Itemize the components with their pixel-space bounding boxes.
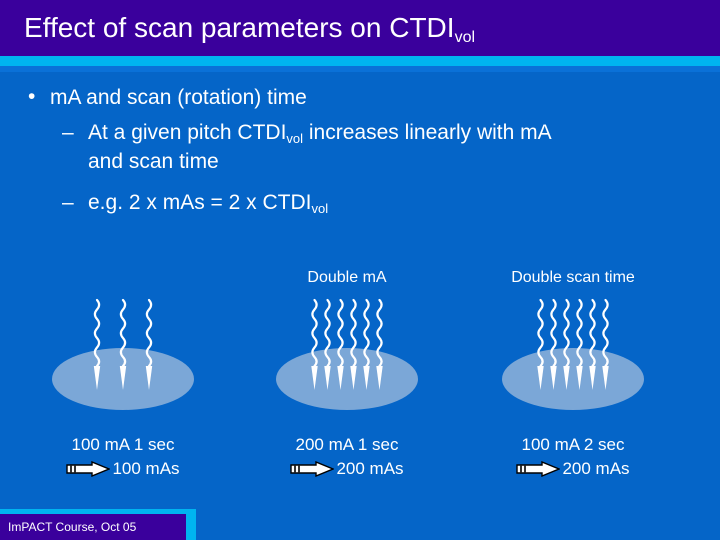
xray-beam-rays <box>458 290 688 410</box>
diagram-label-top: 100 mA 2 sec <box>521 435 624 454</box>
diagram-label-double-ma: 200 mA 1 sec 200 mAs <box>232 434 462 456</box>
bullet-level2-first-post: increases linearly with mA <box>303 121 552 144</box>
divider-stripe-blue <box>0 66 720 72</box>
diagram-label-double-time: 100 mA 2 sec 200 mAs <box>458 434 688 456</box>
bullet-level2-second-subscript: vol <box>311 201 328 216</box>
bullet-level2-first-line2: and scan time <box>88 148 720 175</box>
block-arrow-right-icon <box>290 461 334 477</box>
slide: Effect of scan parameters on CTDIvol • m… <box>0 0 720 540</box>
block-arrow-right-icon <box>516 461 560 477</box>
diagram-caption: Double scan time <box>458 268 688 288</box>
bullet-level2-first: – At a given pitch CTDIvol increases lin… <box>58 119 720 175</box>
diagram-result-text: 200 mAs <box>336 458 403 480</box>
bullet-marker-dot: • <box>28 83 35 110</box>
diagram-result-row: 200 mAs <box>458 458 688 480</box>
bullet-marker-dash: – <box>62 189 74 216</box>
bullet-level1: • mA and scan (rotation) time <box>22 84 720 111</box>
page-title-main: Effect of scan parameters on CTDI <box>24 12 455 43</box>
diagram-result-text: 100 mAs <box>112 458 179 480</box>
bullet-marker-dash: – <box>62 119 74 146</box>
bullet-level1-text: mA and scan (rotation) time <box>50 86 307 109</box>
diagram-scene <box>8 290 238 410</box>
xray-beam-rays <box>232 290 462 410</box>
page-title-subscript: vol <box>455 29 475 46</box>
block-arrow-right-icon <box>66 461 110 477</box>
bullet-level2-first-line1: At a given pitch CTDIvol increases linea… <box>88 119 720 148</box>
bullet-level2-second-line1: e.g. 2 x mAs = 2 x CTDIvol <box>88 189 720 218</box>
bullet-level2-second: – e.g. 2 x mAs = 2 x CTDIvol <box>58 189 720 218</box>
bullet-list: • mA and scan (rotation) time – At a giv… <box>0 84 720 218</box>
bullet-level2-first-pre: At a given pitch CTDI <box>88 121 286 144</box>
footer-text: ImPACT Course, Oct 05 <box>8 519 136 535</box>
diagram-result-row: 100 mAs <box>8 458 238 480</box>
bullet-level2-first-subscript: vol <box>286 131 303 146</box>
diagram-label-top: 100 mA 1 sec <box>71 435 174 454</box>
diagram-scene <box>232 290 462 410</box>
diagram-result-row: 200 mAs <box>232 458 462 480</box>
diagram-caption: Double mA <box>232 268 462 288</box>
divider-stripe-cyan <box>0 56 720 66</box>
page-title: Effect of scan parameters on CTDIvol <box>24 12 475 49</box>
bullet-level2-second-pre: e.g. 2 x mAs = 2 x CTDI <box>88 191 311 214</box>
diagram-scene <box>458 290 688 410</box>
diagram-result-text: 200 mAs <box>562 458 629 480</box>
diagram-label-top: 200 mA 1 sec <box>295 435 398 454</box>
diagram-label-baseline: 100 mA 1 sec 100 mAs <box>8 434 238 456</box>
xray-beam-rays <box>8 290 238 410</box>
